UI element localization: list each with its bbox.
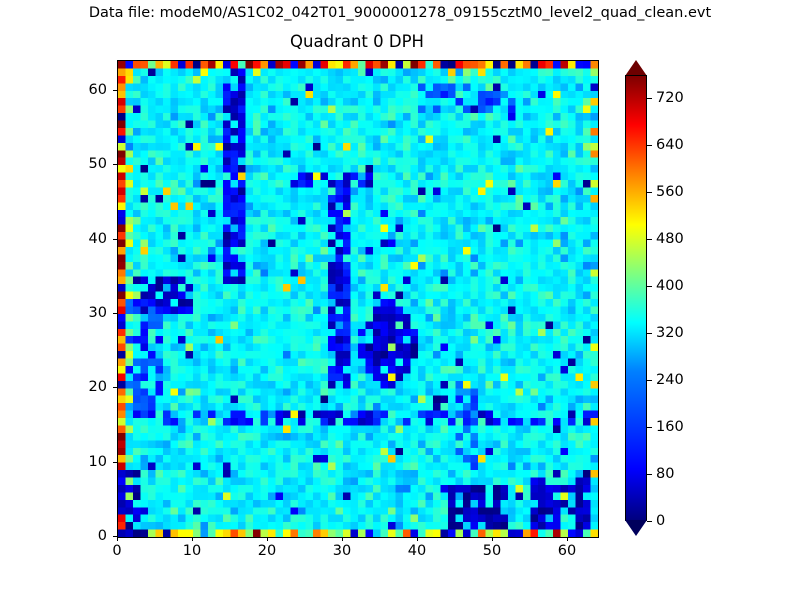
x-tick-label: 0 (112, 543, 121, 559)
colorbar-tick-mark (647, 427, 652, 428)
y-tick-label: 20 (57, 379, 107, 395)
y-tick-mark (113, 462, 117, 463)
y-tick-label: 40 (57, 231, 107, 247)
colorbar-tick-mark (647, 98, 652, 99)
y-tick-label: 50 (57, 156, 107, 172)
colorbar-tick-label: 0 (656, 513, 665, 529)
figure-canvas: Data file: modeM0/AS1C02_042T01_90000012… (0, 0, 800, 600)
colorbar-tick-mark (647, 474, 652, 475)
colorbar-tick-label: 480 (656, 231, 684, 247)
colorbar-tick-mark (647, 521, 652, 522)
colorbar-tick-label: 640 (656, 137, 684, 153)
colorbar-tick-mark (647, 145, 652, 146)
colorbar-tick-label: 400 (656, 278, 684, 294)
x-tick-mark (417, 537, 418, 541)
y-tick-mark (113, 387, 117, 388)
heatmap-axes[interactable] (117, 60, 599, 538)
x-tick-mark (267, 537, 268, 541)
colorbar-tick-label: 720 (656, 90, 684, 106)
x-tick-label: 60 (558, 543, 576, 559)
x-tick-mark (117, 537, 118, 541)
y-tick-mark (113, 90, 117, 91)
y-tick-mark (113, 536, 117, 537)
colorbar-tick-mark (647, 239, 652, 240)
page-title: Quadrant 0 DPH (117, 32, 597, 51)
x-tick-label: 20 (258, 543, 276, 559)
colorbar-gradient (625, 75, 647, 521)
colorbar-extend-min-arrow-icon (625, 520, 647, 536)
dph-heatmap-image[interactable] (118, 61, 598, 537)
colorbar[interactable] (625, 60, 647, 536)
colorbar-tick-label: 560 (656, 184, 684, 200)
colorbar-tick-mark (647, 286, 652, 287)
x-tick-mark (567, 537, 568, 541)
y-tick-label: 30 (57, 305, 107, 321)
x-tick-mark (192, 537, 193, 541)
x-tick-mark (342, 537, 343, 541)
x-tick-label: 40 (408, 543, 426, 559)
x-tick-label: 50 (483, 543, 501, 559)
colorbar-tick-mark (647, 380, 652, 381)
y-tick-mark (113, 164, 117, 165)
y-tick-mark (113, 313, 117, 314)
colorbar-tick-label: 80 (656, 466, 674, 482)
y-tick-label: 60 (57, 82, 107, 98)
y-tick-label: 10 (57, 454, 107, 470)
colorbar-tick-mark (647, 333, 652, 334)
x-tick-label: 10 (183, 543, 201, 559)
colorbar-extend-max-arrow-icon (625, 60, 647, 76)
colorbar-tick-mark (647, 192, 652, 193)
y-tick-mark (113, 239, 117, 240)
colorbar-tick-label: 240 (656, 372, 684, 388)
x-tick-label: 30 (333, 543, 351, 559)
y-tick-label: 0 (57, 528, 107, 544)
colorbar-tick-label: 160 (656, 419, 684, 435)
x-tick-mark (492, 537, 493, 541)
data-file-suptitle: Data file: modeM0/AS1C02_042T01_90000012… (0, 5, 800, 21)
colorbar-tick-label: 320 (656, 325, 684, 341)
